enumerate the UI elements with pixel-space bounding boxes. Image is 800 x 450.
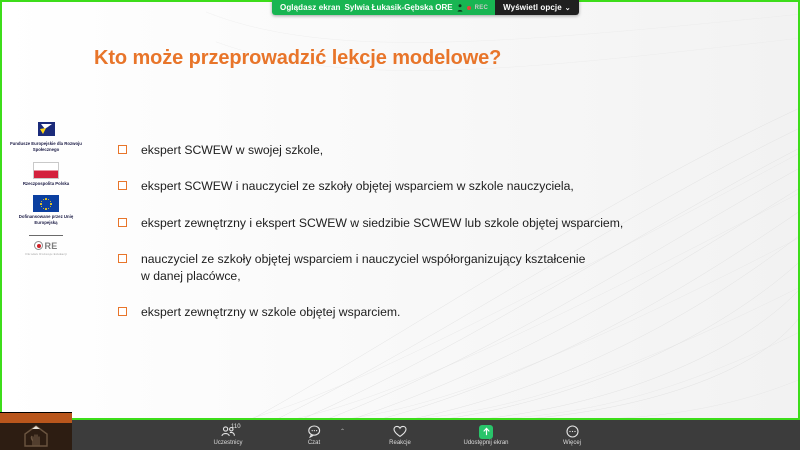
more-button[interactable]: Więcej: [542, 425, 602, 446]
eu-star-icon: [45, 198, 47, 200]
view-options-button[interactable]: Wyświetl opcje ⌄: [495, 0, 578, 15]
presenter-name: Sylwia Łukasik-Gębska ORE: [345, 3, 453, 12]
square-bullet-icon: [118, 181, 127, 190]
reactions-button[interactable]: Reakcje: [370, 425, 430, 446]
chevron-up-icon[interactable]: ⌃: [340, 428, 345, 435]
funding-logos: Fundusze Europejskie dla Rozwoju Społecz…: [6, 120, 86, 256]
heart-icon: [393, 425, 407, 439]
square-bullet-icon: [118, 254, 127, 263]
participants-label: Uczestnicy: [213, 440, 242, 446]
viewing-screen-label: Oglądasz ekran: [280, 3, 341, 12]
self-view-thumbnail[interactable]: [0, 412, 72, 450]
thumbnail-color-band: [0, 413, 72, 423]
presentation-slide: Kto może przeprowadzić lekcje modelowe? …: [2, 2, 798, 418]
list-item-text: ekspert SCWEW i nauczyciel ze szkoły obj…: [141, 178, 738, 194]
upload-arrow-icon: [479, 425, 493, 439]
list-item-text: nauczyciel ze szkoły objętej wsparciem i…: [141, 251, 738, 284]
bullet-list: ekspert SCWEW w swojej szkole, ekspert S…: [118, 142, 738, 321]
ore-wordmark: RE: [44, 241, 57, 251]
eu-star-icon: [48, 199, 50, 201]
logo-fundusze-europejskie: Fundusze Europejskie dla Rozwoju Społecz…: [7, 120, 85, 153]
eu-star-icon: [48, 208, 50, 210]
share-status-segment: Oglądasz ekran Sylwia Łukasik-Gębska ORE…: [272, 0, 495, 15]
logo-caption: Fundusze Europejskie dla Rozwoju Społecz…: [7, 141, 85, 153]
person-icon: [457, 4, 463, 12]
ellipsis-icon: [566, 425, 579, 439]
shared-screen-region: Kto może przeprowadzić lekcje modelowe? …: [0, 0, 800, 420]
ore-dot-icon: [34, 241, 43, 250]
screen-share-toolbar: Oglądasz ekran Sylwia Łukasik-Gębska ORE…: [272, 0, 579, 15]
rec-label: REC: [475, 5, 489, 11]
eu-star-icon: [40, 203, 42, 205]
view-options-label: Wyświetl opcje: [503, 3, 562, 12]
list-item-text: ekspert zewnętrzny i ekspert SCWEW w sie…: [141, 215, 738, 231]
chat-label: Czat: [308, 440, 320, 446]
chevron-down-icon: ⌄: [565, 4, 571, 12]
chat-button[interactable]: ⌃ Czat: [284, 425, 344, 446]
share-screen-label: Udostępnij ekran: [463, 440, 508, 446]
eu-flag-icon: [33, 195, 59, 212]
square-bullet-icon: [118, 145, 127, 154]
eu-star-icon: [43, 208, 45, 210]
eu-star-icon: [43, 199, 45, 201]
reactions-label: Reakcje: [389, 440, 411, 446]
logo-ore: RE Ośrodek Rozwoju Edukacji: [7, 235, 85, 257]
square-bullet-icon: [118, 307, 127, 316]
logo-unia-europejska: Dofinansowane przez Unię Europejską: [7, 195, 85, 226]
participants-button[interactable]: 110 Uczestnicy: [198, 425, 258, 446]
eu-star-icon: [50, 203, 52, 205]
page-title: Kto może przeprowadzić lekcje modelowe?: [94, 46, 714, 70]
fundusze-europejskie-icon: [33, 120, 59, 139]
list-item: ekspert SCWEW w swojej szkole,: [118, 142, 738, 158]
chat-bubble-icon: [307, 425, 321, 439]
logo-caption: Rzeczpospolita Polska: [23, 181, 69, 187]
eu-star-icon: [50, 201, 52, 203]
list-item: ekspert zewnętrzny i ekspert SCWEW w sie…: [118, 215, 738, 231]
square-bullet-icon: [118, 218, 127, 227]
list-item: ekspert SCWEW i nauczyciel ze szkoły obj…: [118, 178, 738, 194]
list-item-text: ekspert zewnętrzny w szkole objętej wspa…: [141, 304, 738, 320]
logo-rzeczpospolita-polska: Rzeczpospolita Polska: [7, 162, 85, 187]
eu-star-icon: [50, 206, 52, 208]
list-item: nauczyciel ze szkoły objętej wsparciem i…: [118, 251, 738, 284]
recording-dot-icon: [467, 6, 471, 10]
meeting-control-bar: 110 Uczestnicy ⌃ Czat Re: [0, 420, 800, 450]
meeting-window: Kto może przeprowadzić lekcje modelowe? …: [0, 0, 800, 450]
ore-subcaption: Ośrodek Rozwoju Edukacji: [25, 252, 67, 256]
house-hand-logo-icon: [24, 425, 48, 447]
more-label: Więcej: [563, 440, 581, 446]
poland-flag-icon: [33, 162, 59, 179]
divider: [29, 235, 63, 236]
participants-count: 110: [231, 424, 241, 430]
eu-star-icon: [41, 201, 43, 203]
list-item-text: ekspert SCWEW w swojej szkole,: [141, 142, 738, 158]
eu-star-icon: [45, 208, 47, 210]
logo-caption: Dofinansowane przez Unię Europejską: [7, 214, 85, 226]
share-screen-button[interactable]: Udostępnij ekran: [456, 425, 516, 446]
list-item: ekspert zewnętrzny w szkole objętej wspa…: [118, 304, 738, 320]
eu-star-icon: [41, 206, 43, 208]
